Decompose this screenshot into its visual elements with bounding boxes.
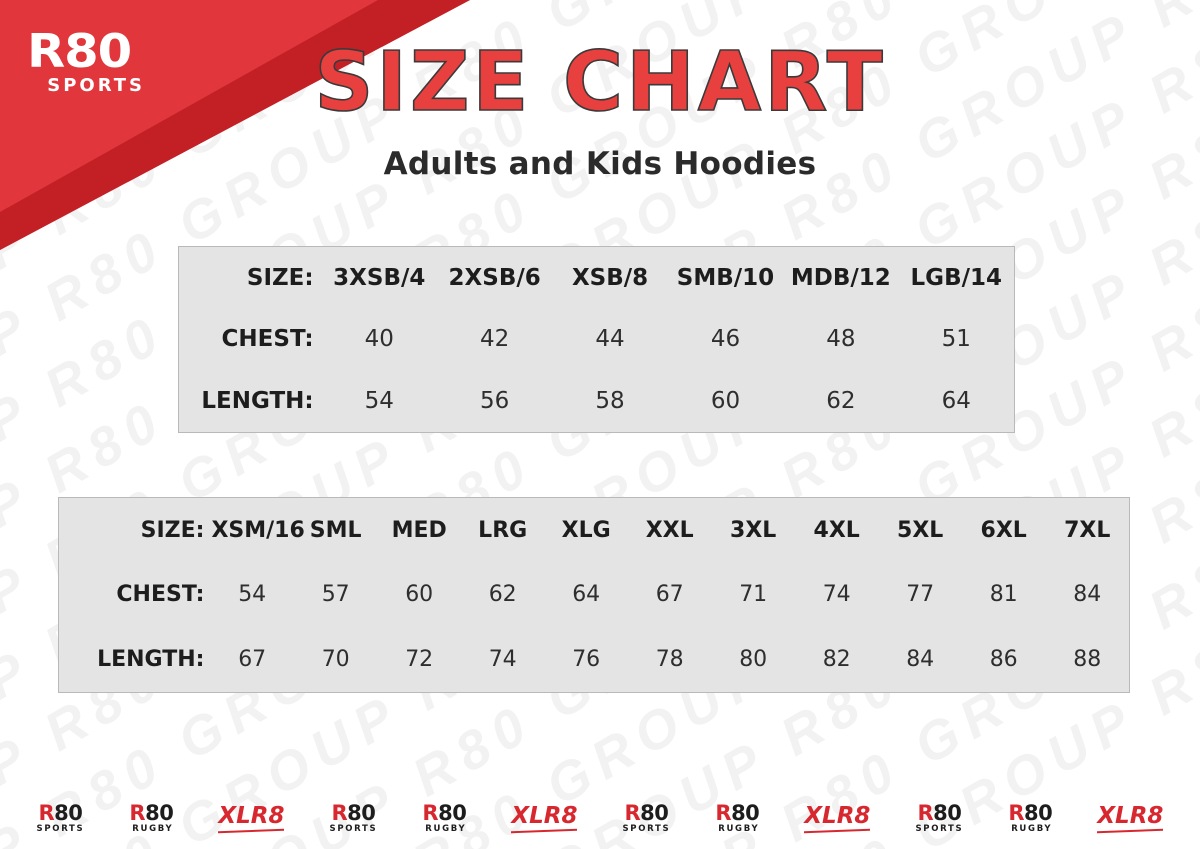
footer-logo-main: R80 [622,803,670,824]
footer-logo-r80-sports: R80SPORTS [37,803,85,834]
footer-logo-xlr8: XLR8 [804,805,870,832]
footer-logo-main: R80 [715,803,759,824]
footer-logo-sub: RUGBY [715,825,759,834]
adults-size-table-grid: SIZE: XSM/16SMLMEDLRGXLGXXL3XL4XL5XL6XL7… [59,498,1129,692]
size-header-cell: 4XL [795,498,879,563]
footer-logo-number: 80 [1024,801,1052,825]
size-header-cell: MED [377,498,461,563]
length-value-cell: 82 [795,627,879,692]
footer-logo-underline [218,828,284,833]
size-header-cell: XLG [544,498,628,563]
size-header-cell: 3XL [711,498,795,563]
footer-logo-sub: SPORTS [915,825,963,834]
footer-logo-r80-rugby: R80RUGBY [1008,803,1052,834]
size-header-cell: LRG [461,498,545,563]
footer-logo-r-mark: R [422,801,438,825]
footer-logo-number: 80 [438,801,466,825]
footer-logo-number: 80 [347,801,375,825]
footer-logo-r80-rugby: R80RUGBY [422,803,466,834]
length-value-cell: 70 [294,627,378,692]
adults-size-table: SIZE: XSM/16SMLMEDLRGXLGXXL3XL4XL5XL6XL7… [58,497,1130,693]
length-value-cell: 80 [711,627,795,692]
footer-logo-number: 80 [731,801,759,825]
chest-value-cell: 77 [878,563,962,628]
table-row: SIZE: XSM/16SMLMEDLRGXLGXXL3XL4XL5XL6XL7… [59,498,1129,563]
length-value-cell: 64 [899,370,1014,432]
size-header-cell: LGB/14 [899,247,1014,309]
footer-logo-main: XLR8 [1097,805,1163,828]
footer-logo-sub: RUGBY [129,825,173,834]
length-value-cell: 56 [437,370,552,432]
footer-logo-main: R80 [330,803,378,824]
length-value-cell: 86 [962,627,1046,692]
length-value-cell: 84 [878,627,962,692]
length-value-cell: 67 [210,627,294,692]
table-row: SIZE: 3XSB/42XSB/6XSB/8SMB/10MDB/12LGB/1… [179,247,1014,309]
adults-size-row-label: SIZE: [59,498,210,563]
header: SIZE CHART Adults and Kids Hoodies [0,0,1200,182]
footer-logo-r-mark: R [715,801,731,825]
footer-logo-r80-sports: R80SPORTS [330,803,378,834]
adults-chest-row-label: CHEST: [59,563,210,628]
footer-logo-main: R80 [915,803,963,824]
table-row: CHEST: 5457606264677174778184 [59,563,1129,628]
size-header-cell: 2XSB/6 [437,247,552,309]
footer-logo-main: XLR8 [218,805,284,828]
footer-logo-xlr8: XLR8 [511,805,577,832]
size-header-cell: XSM/16 [210,498,294,563]
table-row: LENGTH: 545658606264 [179,370,1014,432]
length-value-cell: 78 [628,627,712,692]
kids-chest-row-label: CHEST: [179,309,322,371]
chest-value-cell: 60 [377,563,461,628]
footer-logo-r80-sports: R80SPORTS [915,803,963,834]
page-title: SIZE CHART [0,0,1200,124]
footer-logo-number: 80 [933,801,961,825]
footer-logo-main: R80 [37,803,85,824]
footer-logo-number: 80 [145,801,173,825]
chest-value-cell: 46 [668,309,783,371]
footer-logo-underline [511,828,577,833]
footer-logo-underline [1097,828,1163,833]
footer-logo-number: 80 [54,801,82,825]
footer-logo-sub: SPORTS [37,825,85,834]
footer-logo-r-mark: R [624,801,640,825]
kids-size-table: SIZE: 3XSB/42XSB/6XSB/8SMB/10MDB/12LGB/1… [178,246,1015,433]
footer-logo-r-mark: R [917,801,933,825]
length-value-cell: 76 [544,627,628,692]
footer-logo-r80-rugby: R80RUGBY [715,803,759,834]
footer-logo-r-mark: R [39,801,55,825]
chest-value-cell: 44 [552,309,667,371]
adults-length-row-label: LENGTH: [59,627,210,692]
footer-logo-r-mark: R [331,801,347,825]
footer-logo-strip: R80SPORTSR80RUGBYXLR8R80SPORTSR80RUGBYXL… [0,787,1200,849]
footer-logo-sub: RUGBY [1008,825,1052,834]
footer-logo-xlr8: XLR8 [1097,805,1163,832]
chest-value-cell: 67 [628,563,712,628]
footer-logo-r80-rugby: R80RUGBY [129,803,173,834]
chest-value-cell: 40 [322,309,437,371]
chest-value-cell: 64 [544,563,628,628]
chest-value-cell: 84 [1045,563,1129,628]
length-value-cell: 74 [461,627,545,692]
chest-value-cell: 48 [783,309,898,371]
footer-logo-sub: RUGBY [422,825,466,834]
kids-size-row-label: SIZE: [179,247,322,309]
chest-value-cell: 51 [899,309,1014,371]
chest-value-cell: 71 [711,563,795,628]
length-value-cell: 88 [1045,627,1129,692]
chest-value-cell: 57 [294,563,378,628]
kids-size-table-grid: SIZE: 3XSB/42XSB/6XSB/8SMB/10MDB/12LGB/1… [179,247,1014,432]
footer-logo-sub: SPORTS [622,825,670,834]
size-header-cell: 5XL [878,498,962,563]
footer-logo-main: R80 [129,803,173,824]
size-header-cell: XXL [628,498,712,563]
chest-value-cell: 74 [795,563,879,628]
table-row: CHEST: 404244464851 [179,309,1014,371]
size-header-cell: SML [294,498,378,563]
footer-logo-r80-sports: R80SPORTS [622,803,670,834]
table-row: LENGTH: 6770727476788082848688 [59,627,1129,692]
size-header-cell: 6XL [962,498,1046,563]
size-header-cell: 3XSB/4 [322,247,437,309]
footer-logo-sub: SPORTS [330,825,378,834]
footer-logo-main: XLR8 [804,805,870,828]
length-value-cell: 54 [322,370,437,432]
length-value-cell: 62 [783,370,898,432]
size-header-cell: XSB/8 [552,247,667,309]
length-value-cell: 60 [668,370,783,432]
footer-logo-xlr8: XLR8 [218,805,284,832]
footer-logo-r-mark: R [1008,801,1024,825]
footer-logo-underline [804,828,870,833]
size-header-cell: MDB/12 [783,247,898,309]
footer-logo-main: R80 [1008,803,1052,824]
chest-value-cell: 42 [437,309,552,371]
footer-logo-r-mark: R [129,801,145,825]
footer-logo-number: 80 [640,801,668,825]
length-value-cell: 58 [552,370,667,432]
footer-logo-main: XLR8 [511,805,577,828]
page-subtitle: Adults and Kids Hoodies [0,124,1200,182]
footer-logo-main: R80 [422,803,466,824]
chest-value-cell: 54 [210,563,294,628]
size-header-cell: SMB/10 [668,247,783,309]
size-header-cell: 7XL [1045,498,1129,563]
chest-value-cell: 81 [962,563,1046,628]
length-value-cell: 72 [377,627,461,692]
chest-value-cell: 62 [461,563,545,628]
kids-length-row-label: LENGTH: [179,370,322,432]
